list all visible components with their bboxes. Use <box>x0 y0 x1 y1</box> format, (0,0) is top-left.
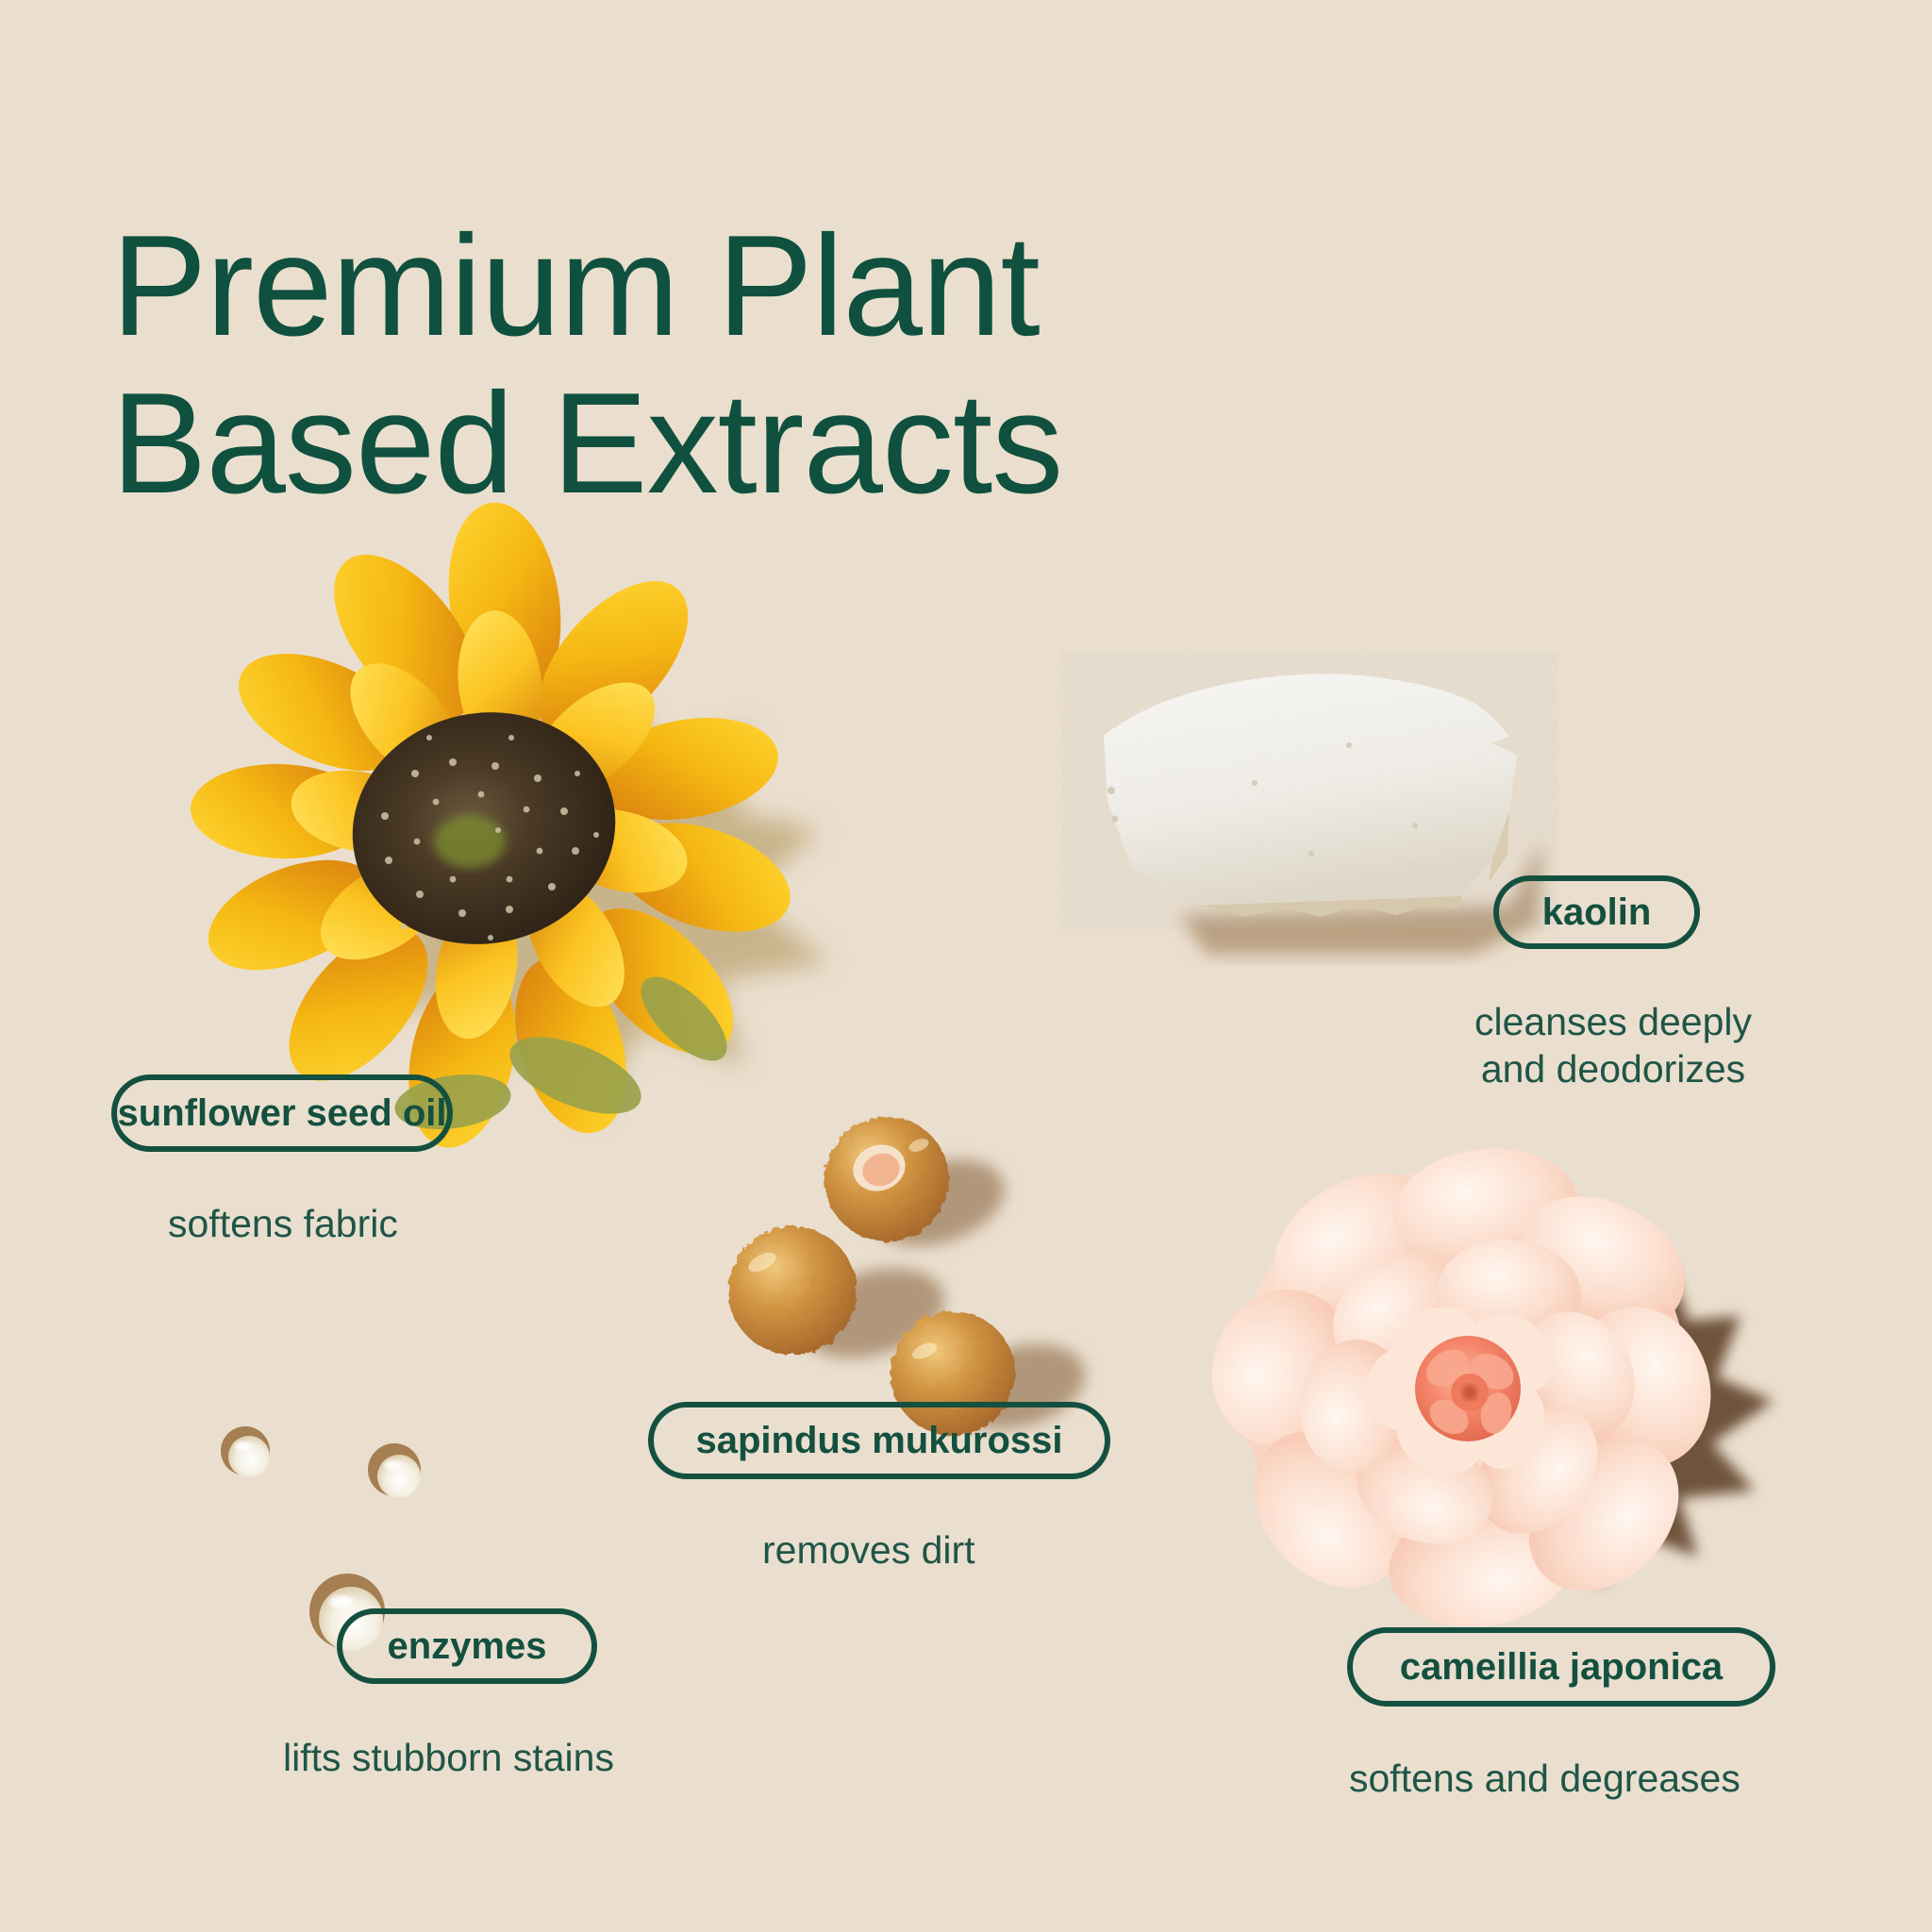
page-title: Premium Plant Based Extracts <box>111 208 1291 523</box>
ingredient-label-sapindus[interactable]: sapindus mukurossi <box>648 1402 1110 1479</box>
enzyme-bead-2 <box>368 1443 421 1498</box>
kaolin-clay-photo <box>1066 623 1594 1019</box>
ingredient-caption-sapindus: removes dirt <box>762 1526 975 1574</box>
ingredient-label-camellia[interactable]: cameillia japonica <box>1347 1627 1775 1707</box>
ingredient-label-sunflower[interactable]: sunflower seed oil <box>111 1074 453 1152</box>
camellia-core <box>1415 1336 1521 1441</box>
ingredient-label-text: kaolin <box>1542 891 1652 934</box>
infographic-canvas: Premium Plant Based Extracts <box>0 0 1932 1932</box>
page-title-line-1: Premium Plant <box>111 208 1291 365</box>
sunflower-photo <box>170 491 849 1151</box>
ingredient-label-text: sapindus mukurossi <box>696 1420 1063 1462</box>
ingredient-label-kaolin[interactable]: kaolin <box>1493 875 1700 949</box>
enzyme-bead-1 <box>221 1426 270 1477</box>
ingredient-label-text: sunflower seed oil <box>118 1092 447 1135</box>
ingredient-label-text: enzymes <box>388 1625 547 1668</box>
ingredient-label-text: cameillia japonica <box>1400 1646 1723 1689</box>
soap-nuts-photo <box>717 1104 1132 1443</box>
ingredient-caption-sunflower: softens fabric <box>168 1200 398 1247</box>
ingredient-caption-camellia: softens and degreases <box>1349 1755 1740 1802</box>
ingredient-caption-kaolin: cleanses deeply and deodorizes <box>1443 998 1783 1092</box>
ingredient-label-enzymes[interactable]: enzymes <box>337 1608 597 1684</box>
kaolin-rock-body <box>1104 674 1517 917</box>
camellia-flower-photo <box>1226 1141 1811 1651</box>
ingredient-caption-enzymes: lifts stubborn stains <box>283 1734 614 1781</box>
